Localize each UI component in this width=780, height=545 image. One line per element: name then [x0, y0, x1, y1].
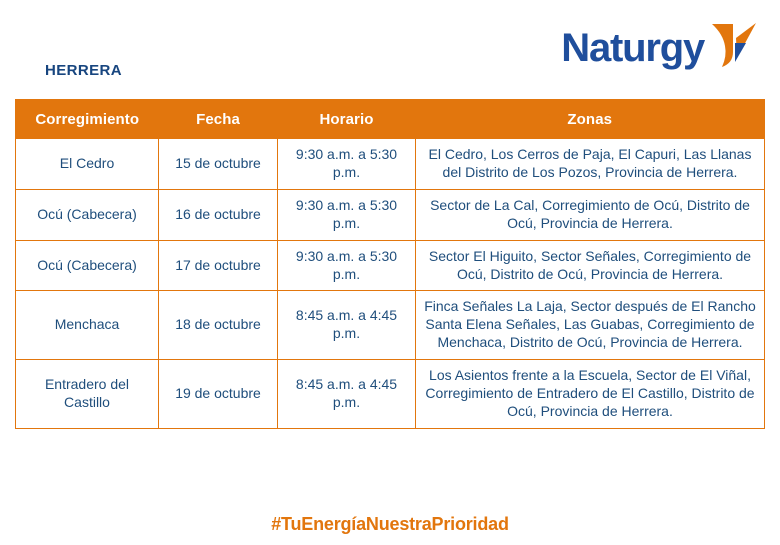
cell-zonas: Sector de La Cal, Corregimiento de Ocú, … [416, 189, 765, 240]
cell-corregimiento: Menchaca [16, 291, 159, 360]
cell-corregimiento: Ocú (Cabecera) [16, 189, 159, 240]
cell-horario: 8:45 a.m. a 4:45 p.m. [278, 291, 416, 360]
cell-horario: 9:30 a.m. a 5:30 p.m. [278, 189, 416, 240]
table-row: Entradero del Castillo 19 de octubre 8:4… [16, 360, 765, 429]
cell-fecha: 19 de octubre [159, 360, 278, 429]
cell-fecha: 18 de octubre [159, 291, 278, 360]
cell-corregimiento: Entradero del Castillo [16, 360, 159, 429]
cell-fecha: 17 de octubre [159, 240, 278, 291]
table-row: Ocú (Cabecera) 17 de octubre 9:30 a.m. a… [16, 240, 765, 291]
column-header-zonas: Zonas [416, 100, 765, 139]
campaign-hashtag: #TuEnergíaNuestraPrioridad [0, 514, 780, 535]
table-header-row: Corregimiento Fecha Horario Zonas [16, 100, 765, 139]
cell-zonas: Los Asientos frente a la Escuela, Sector… [416, 360, 765, 429]
cell-horario: 9:30 a.m. a 5:30 p.m. [278, 139, 416, 190]
table-header: Corregimiento Fecha Horario Zonas [16, 100, 765, 139]
cell-zonas: El Cedro, Los Cerros de Paja, El Capuri,… [416, 139, 765, 190]
naturgy-butterfly-icon [706, 22, 758, 70]
table-row: Ocú (Cabecera) 16 de octubre 9:30 a.m. a… [16, 189, 765, 240]
province-title: HERRERA [45, 62, 122, 79]
notice-page: HERRERA Naturgy Corregimiento Fecha Hora… [0, 0, 780, 545]
naturgy-logo: Naturgy [561, 26, 758, 78]
table-body: El Cedro 15 de octubre 9:30 a.m. a 5:30 … [16, 139, 765, 429]
cell-corregimiento: Ocú (Cabecera) [16, 240, 159, 291]
column-header-fecha: Fecha [159, 100, 278, 139]
cell-zonas: Sector El Higuito, Sector Señales, Corre… [416, 240, 765, 291]
table-row: Menchaca 18 de octubre 8:45 a.m. a 4:45 … [16, 291, 765, 360]
cell-horario: 9:30 a.m. a 5:30 p.m. [278, 240, 416, 291]
table-row: El Cedro 15 de octubre 9:30 a.m. a 5:30 … [16, 139, 765, 190]
column-header-corregimiento: Corregimiento [16, 100, 159, 139]
cell-corregimiento: El Cedro [16, 139, 159, 190]
outage-schedule-table: Corregimiento Fecha Horario Zonas El Ced… [15, 99, 765, 429]
cell-horario: 8:45 a.m. a 4:45 p.m. [278, 360, 416, 429]
page-header: HERRERA Naturgy [0, 0, 780, 95]
cell-fecha: 15 de octubre [159, 139, 278, 190]
brand-wordmark: Naturgy [561, 26, 704, 70]
cell-zonas: Finca Señales La Laja, Sector después de… [416, 291, 765, 360]
column-header-horario: Horario [278, 100, 416, 139]
cell-fecha: 16 de octubre [159, 189, 278, 240]
